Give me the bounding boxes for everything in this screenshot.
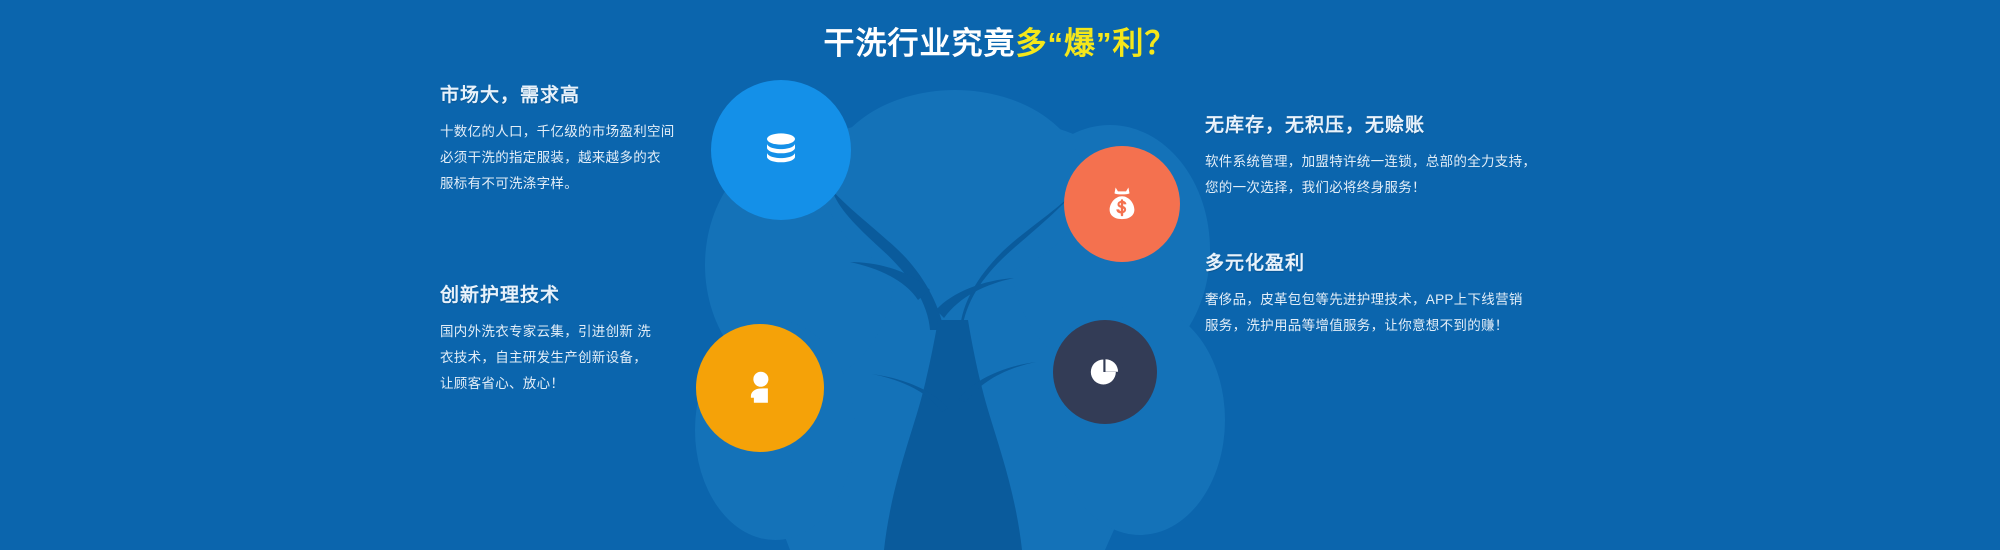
- money-bag-icon: [1100, 182, 1144, 226]
- feature-tech: 创新护理技术 国内外洗衣专家云集，引进创新 洗 衣技术，自主研发生产创新设备， …: [440, 280, 700, 397]
- feature-profit: 多元化盈利 奢侈品，皮革包包等先进护理技术，APP上下线营销 服务，洗护用品等增…: [1205, 248, 1625, 339]
- database-icon-circle[interactable]: [711, 80, 851, 220]
- feature-profit-body: 奢侈品，皮革包包等先进护理技术，APP上下线营销 服务，洗护用品等增值服务，让你…: [1205, 287, 1625, 339]
- feature-market-line-2: 必须干洗的指定服装，越来越多的衣: [440, 145, 700, 171]
- feature-tech-line-3: 让顾客省心、放心！: [440, 371, 700, 397]
- money-bag-icon-circle[interactable]: [1064, 146, 1180, 262]
- pie-chart-icon-circle[interactable]: [1053, 320, 1157, 424]
- feature-tech-line-2: 衣技术，自主研发生产创新设备，: [440, 345, 700, 371]
- pie-chart-icon: [1085, 352, 1125, 392]
- feature-market-line-3: 服标有不可洗涤字样。: [440, 171, 700, 197]
- feature-tech-line-1: 国内外洗衣专家云集，引进创新 洗: [440, 319, 700, 345]
- feature-market-body: 十数亿的人口，千亿级的市场盈利空间 必须干洗的指定服装，越来越多的衣 服标有不可…: [440, 119, 700, 197]
- feature-profit-line-2: 服务，洗护用品等增值服务，让你意想不到的赚！: [1205, 313, 1625, 339]
- feature-market-line-1: 十数亿的人口，千亿级的市场盈利空间: [440, 119, 700, 145]
- feature-stock-line-1: 软件系统管理，加盟特许统一连锁，总部的全力支持，: [1205, 149, 1625, 175]
- promo-banner: 干洗行业究竟多“爆”利？: [0, 0, 2000, 550]
- tree-background-illustration: [0, 0, 2000, 550]
- feature-market: 市场大，需求高 十数亿的人口，千亿级的市场盈利空间 必须干洗的指定服装，越来越多…: [440, 80, 700, 197]
- feature-stock-body: 软件系统管理，加盟特许统一连锁，总部的全力支持， 您的一次选择，我们必将终身服务…: [1205, 149, 1625, 201]
- page-title: 干洗行业究竟多“爆”利？: [0, 24, 2000, 64]
- page-title-yellow-part: 多“爆”利？: [1016, 26, 1177, 61]
- feature-market-title: 市场大，需求高: [440, 80, 700, 107]
- feature-tech-body: 国内外洗衣专家云集，引进创新 洗 衣技术，自主研发生产创新设备， 让顾客省心、放…: [440, 319, 700, 397]
- feature-profit-line-1: 奢侈品，皮革包包等先进护理技术，APP上下线营销: [1205, 287, 1625, 313]
- user-icon-circle[interactable]: [696, 324, 824, 452]
- database-icon: [757, 126, 805, 174]
- feature-tech-title: 创新护理技术: [440, 280, 700, 307]
- user-icon: [739, 367, 781, 409]
- feature-profit-title: 多元化盈利: [1205, 248, 1625, 275]
- page-title-white-part: 干洗行业究竟: [824, 26, 1016, 61]
- tree-trunk: [832, 182, 1082, 550]
- feature-stock-title: 无库存，无积压，无赊账: [1205, 110, 1625, 137]
- feature-stock-line-2: 您的一次选择，我们必将终身服务！: [1205, 175, 1625, 201]
- feature-stock: 无库存，无积压，无赊账 软件系统管理，加盟特许统一连锁，总部的全力支持， 您的一…: [1205, 110, 1625, 201]
